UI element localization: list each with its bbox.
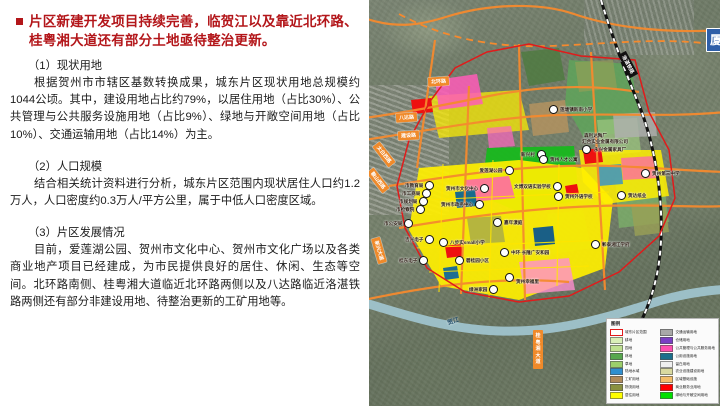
legend-swatch	[660, 337, 673, 344]
poi-label: 贺州人才公寓	[550, 157, 578, 163]
poi-dot-icon	[582, 145, 591, 154]
poi-marker: 八步实small小学	[439, 238, 485, 247]
headline-text: 片区新建开发项目持续完善，临贺江以及靠近北环路、桂粤湘大道还有部分土地亟待整治更…	[29, 12, 360, 50]
legend-row: 绿地与开敞空间用地	[660, 392, 715, 399]
poi-dot-icon	[489, 285, 498, 294]
legend-row: 居住用地	[610, 392, 657, 399]
legend-row: 留白用地	[660, 361, 715, 368]
poi-marker: 嘉年漾庭	[493, 218, 522, 227]
legend-row: 农业设施建设用地	[660, 368, 715, 375]
poi-label: 市检察院	[396, 207, 414, 213]
poi-label: 桂东电子	[399, 258, 417, 264]
highway-shield-icon: 厦	[706, 28, 720, 52]
poi-dot-icon	[553, 182, 562, 191]
poi-dot-icon	[455, 256, 464, 265]
legend-row: 交通运输用地	[660, 329, 715, 336]
legend-swatch	[660, 376, 673, 383]
poi-label: 新兴村	[521, 152, 535, 158]
poi-dot-icon	[419, 256, 428, 265]
legend-row: 工矿用地	[610, 376, 657, 383]
poi-dot-icon	[554, 192, 563, 201]
slide-root: 片区新建开发项目持续完善，临贺江以及靠近北环路、桂粤湘大道还有部分土地亟待整治更…	[0, 0, 720, 406]
poi-label: 文博双语实验学校	[514, 184, 551, 190]
poi-marker: 碧桂园小区	[455, 256, 489, 265]
section-3-heading: （3）片区发展情况	[28, 225, 360, 242]
bullet-square-icon	[16, 18, 23, 25]
poi-label: 嘉年漾庭	[504, 220, 522, 226]
poi-dot-icon	[416, 205, 425, 214]
legend-column-left: 城东片区范围耕地园地林地草地陆地水域工矿用地物流用地居住用地	[610, 329, 657, 400]
poi-marker: 文博双语实验学校	[514, 182, 562, 191]
legend-row: 公共管理与公共服务用地	[660, 345, 715, 352]
section-1-body: 根据贺州市市辖区基数转换成果，城东片区现状用地总规模约1044公顷。其中，建设用…	[10, 75, 360, 144]
legend-row: 物流用地	[610, 384, 657, 391]
poi-label: 市规划局	[399, 199, 417, 205]
legend-label: 交通运输用地	[675, 330, 697, 335]
legend-label: 物流用地	[625, 385, 639, 390]
poi-marker: 爱莲湖公园	[479, 166, 514, 175]
legend-row: 林地	[610, 353, 657, 360]
poi-label: 碧桂园小区	[466, 258, 489, 264]
legend-label: 耕地	[625, 338, 632, 343]
poi-dot-icon	[425, 235, 434, 244]
legend-row: 草地	[610, 361, 657, 368]
poi-label: 爱莲湖公园	[479, 168, 503, 174]
legend-label: 草地	[625, 362, 632, 367]
poi-marker: 绿洲家园	[469, 285, 498, 294]
poi-dot-icon	[539, 155, 548, 164]
legend-label: 留白用地	[675, 362, 689, 367]
legend-title: 图例	[611, 321, 715, 327]
legend-swatch	[660, 392, 673, 399]
legend-label: 工矿用地	[625, 377, 639, 382]
legend-label: 陆地水域	[625, 369, 639, 374]
legend-swatch	[660, 329, 673, 336]
legend-label: 仓储用地	[675, 338, 689, 343]
legend-swatch	[610, 376, 623, 383]
road-tag-jiansheelu: 建设路	[398, 130, 419, 140]
legend-swatch	[610, 337, 623, 344]
map-legend: 图例 城东片区范围耕地园地林地草地陆地水域工矿用地物流用地居住用地 交通运输用地…	[606, 318, 719, 404]
poi-marker: 市检察院	[396, 205, 425, 214]
legend-label: 商业服务业用地	[675, 385, 700, 390]
poi-dot-icon	[641, 169, 650, 178]
legend-swatch	[660, 368, 673, 375]
road-tag-guiyuexiangdadao: 桂粤湘大道	[533, 330, 543, 369]
poi-marker: 彰泰湘江学府	[591, 240, 630, 249]
poi-label: 莲塘镇新南小学	[560, 107, 592, 113]
poi-label: 市教育局	[405, 183, 423, 189]
poi-dot-icon	[493, 218, 502, 227]
legend-label: 城东片区范围	[625, 330, 647, 335]
legend-row: 耕地	[610, 337, 657, 344]
road-tag-badalu: 八达路	[396, 112, 418, 122]
poi-marker: 桂东电子	[399, 256, 428, 265]
poi-dot-icon	[549, 105, 558, 114]
poi-dot-icon	[475, 200, 484, 209]
legend-label: 林地	[625, 354, 632, 359]
poi-label: 市公安局	[384, 221, 402, 227]
poi-label: 贺州外语学校	[565, 194, 593, 200]
legend-label: 居住用地	[625, 393, 639, 398]
poi-dot-icon	[591, 240, 600, 249]
legend-column-right: 交通运输用地仓储用地公共管理与公共服务用地公用设施用地留白用地农业设施建设用地区…	[660, 329, 715, 400]
legend-swatch	[610, 384, 623, 391]
poi-marker: 莲塘镇新南小学	[549, 105, 592, 114]
poi-label: 绿洲家园	[469, 287, 487, 293]
poi-marker: 贺州外语学校	[554, 192, 593, 201]
poi-dot-icon	[617, 191, 626, 200]
poi-marker: 贺州第三中学	[641, 169, 680, 178]
legend-label: 区域基础设施	[675, 377, 697, 382]
poi-label: 吉光电子	[405, 237, 423, 243]
legend-row: 区域基础设施	[660, 376, 715, 383]
legend-label: 农业设施建设用地	[675, 369, 704, 374]
poi-dot-icon	[505, 166, 514, 175]
poi-marker: 永兴金属家具厂	[582, 145, 626, 154]
legend-label: 园地	[625, 346, 632, 351]
legend-swatch	[610, 361, 623, 368]
text-column: 片区新建开发项目持续完善，临贺江以及靠近北环路、桂粤湘大道还有部分土地亟待整治更…	[0, 0, 368, 406]
legend-row: 陆地水域	[610, 368, 657, 375]
poi-label: 市工商局	[402, 191, 420, 197]
section-2-body: 结合相关统计资料进行分析，城东片区范围内现状居住人口约1.2万人，人口密度约0.…	[10, 176, 360, 210]
poi-label: 贺达纸业	[628, 193, 646, 199]
legend-label: 绿地与开敞空间用地	[675, 393, 707, 398]
legend-row: 商业服务业用地	[660, 384, 715, 391]
legend-swatch	[660, 361, 673, 368]
poi-label: 贺州幸福里	[516, 279, 539, 285]
legend-row: 园地	[610, 345, 657, 352]
poi-dot-icon	[404, 219, 413, 228]
legend-label: 公共管理与公共服务用地	[675, 346, 715, 351]
legend-row: 公用设施用地	[660, 353, 715, 360]
road-tag-beihuanlu: 北环路	[428, 76, 450, 86]
poi-label: 彰泰湘江学府	[602, 242, 630, 248]
poi-dot-icon	[480, 184, 489, 193]
poi-dot-icon	[505, 273, 514, 282]
legend-swatch	[660, 384, 673, 391]
legend-row: 城东片区范围	[610, 329, 657, 336]
section-2-heading: （2）人口规模	[28, 159, 360, 176]
legend-swatch	[660, 353, 673, 360]
poi-dot-icon	[500, 248, 509, 257]
poi-label: 贺州市政务中心	[441, 202, 473, 208]
poi-marker: 贺达纸业	[617, 191, 646, 200]
legend-swatch	[610, 353, 623, 360]
poi-label: 中环·长隆广安和园	[511, 250, 549, 256]
poi-marker: 贺州幸福里	[505, 270, 539, 285]
map-panel: 厦 北环路 八达路 建设路 太白西路 鞍山西路 新兴大道 桂粤湘大道 洛湛铁路 …	[369, 0, 720, 406]
poi-marker: 贺州人才公寓	[539, 155, 578, 164]
poi-marker: 吉光电子	[405, 235, 434, 244]
legend-swatch	[610, 329, 623, 336]
legend-label: 公用设施用地	[675, 354, 697, 359]
poi-marker: 贺州市文化中心	[446, 184, 489, 193]
poi-label: 贺州第三中学	[652, 171, 680, 177]
legend-swatch	[610, 368, 623, 375]
section-1-heading: （1）现状用地	[28, 58, 360, 75]
spacer	[10, 144, 360, 153]
spacer	[10, 210, 360, 219]
legend-swatch	[660, 345, 673, 352]
poi-dot-icon	[439, 238, 448, 247]
poi-marker: 市公安局	[384, 219, 413, 228]
poi-label: 永兴金属家具厂	[594, 147, 626, 153]
legend-row: 仓储用地	[660, 337, 715, 344]
poi-marker: 贺州市政务中心	[441, 200, 484, 209]
poi-marker: 中环·长隆广安和园	[500, 248, 549, 257]
headline: 片区新建开发项目持续完善，临贺江以及靠近北环路、桂粤湘大道还有部分土地亟待整治更…	[16, 12, 360, 50]
legend-swatch	[610, 392, 623, 399]
legend-swatch	[610, 345, 623, 352]
poi-label: 贺州市文化中心	[446, 186, 478, 192]
poi-label: 八步实small小学	[450, 240, 485, 246]
section-3-body: 目前，爱莲湖公园、贺州市文化中心、贺州市文化广场以及各类商业地产项目已经建成，为…	[10, 242, 360, 311]
